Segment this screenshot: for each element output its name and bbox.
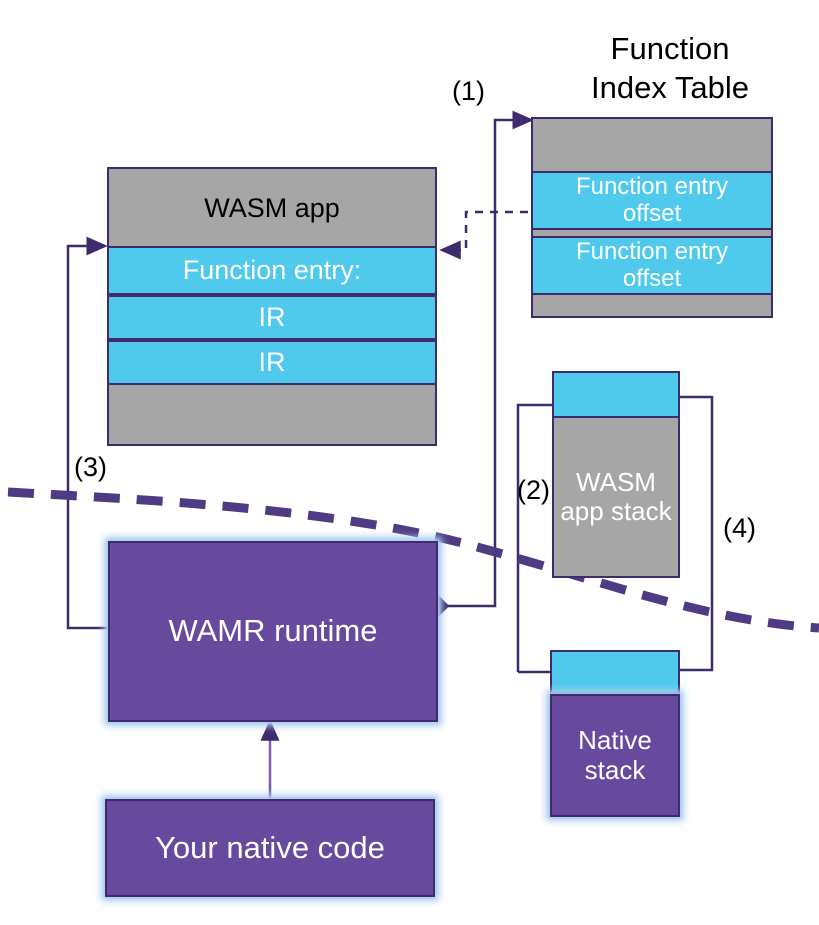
wasm-app-row-ir-2[interactable]: IR [109, 340, 435, 385]
function-index-table-title: Function Index Table [540, 30, 800, 108]
wamr-runtime-block[interactable]: WAMR runtime [108, 541, 438, 722]
diagram-canvas: Function Index Table WASM app Function e… [0, 0, 819, 925]
function-index-entry-1[interactable]: Function entry offset [533, 171, 771, 230]
step-label-3: (3) [74, 452, 107, 483]
step-label-2: (2) [517, 475, 550, 506]
function-index-table-top-gray [533, 119, 771, 171]
wasm-app-stack-top-strip [554, 373, 678, 418]
wasm-app-row-ir-1[interactable]: IR [109, 295, 435, 340]
wasm-app-row-label: IR [259, 347, 286, 377]
native-code-label: Your native code [155, 831, 385, 866]
wasm-app-stack-block[interactable]: WASM app stack [552, 371, 680, 578]
step-label-4: (4) [723, 513, 756, 544]
wasm-app-row-function-entry[interactable]: Function entry: [109, 246, 435, 295]
step-label-1: (1) [452, 76, 485, 107]
native-stack-top-strip [550, 650, 680, 694]
function-index-table-block[interactable]: Function entry offset Function entry off… [531, 117, 773, 318]
wasm-app-header: WASM app [109, 169, 435, 247]
wasm-app-row-label: IR [259, 302, 286, 332]
wamr-runtime-label: WAMR runtime [169, 614, 378, 649]
native-stack-body: Native stack [550, 694, 680, 817]
wasm-app-row-label: Function entry: [183, 255, 362, 285]
function-index-entry-2[interactable]: Function entry offset [533, 236, 771, 295]
wasm-app-stack-label: WASM app stack [554, 418, 678, 576]
connector-step-3 [68, 246, 110, 628]
wasm-app-block[interactable]: WASM app Function entry: IR IR [107, 167, 437, 446]
native-code-block[interactable]: Your native code [105, 799, 435, 897]
native-stack-block[interactable]: Native stack [550, 650, 680, 817]
connector-step-1 [437, 120, 531, 606]
wasm-app-header-label: WASM app [204, 193, 340, 223]
